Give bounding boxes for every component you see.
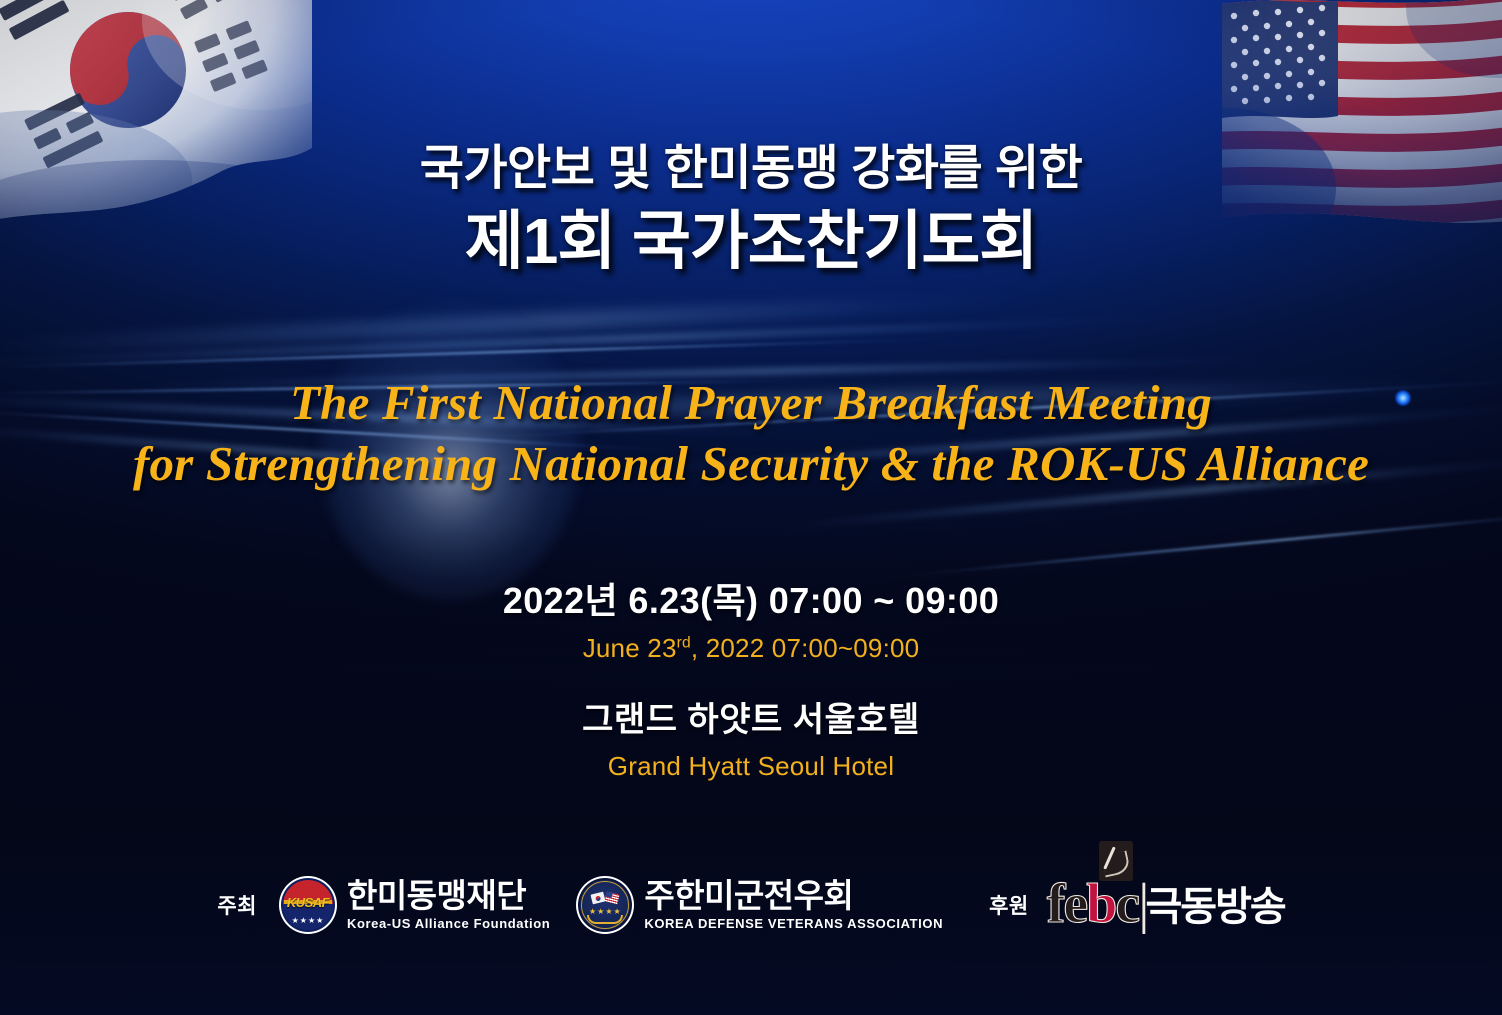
datetime-english: June 23rd, 2022 07:00~09:00 <box>0 633 1502 664</box>
datetime-ordinal-suffix: rd <box>677 634 691 651</box>
febc-name-korean: 극동방송 <box>1145 887 1284 932</box>
kusaf-emblem-icon: KUSAF ★★★★ <box>279 876 337 934</box>
korean-title-line1: 국가안보 및 한미동맹 강화를 위한 <box>0 140 1502 198</box>
sponsor-febc: febc| 극동방송 <box>1047 878 1285 931</box>
korean-title-block: 국가안보 및 한미동맹 강화를 위한 제1회 국가조찬기도회 <box>0 140 1502 280</box>
kdva-emblem-icon: ★★★★ <box>576 876 634 934</box>
kusaf-name-english: Korea-US Alliance Foundation <box>347 916 550 931</box>
datetime-korean: 2022년 6.23(목) 07:00 ~ 09:00 <box>0 572 1502 624</box>
sponsor-kdva: ★★★★ 주한미군전우회 KOREA DEFENSE VETERANS ASSO… <box>576 876 943 934</box>
kdva-korean-flag-icon <box>591 892 606 905</box>
kdva-name-block: 주한미군전우회 KOREA DEFENSE VETERANS ASSOCIATI… <box>644 879 943 931</box>
kdva-us-flag-icon <box>605 892 620 905</box>
febc-letter-e: e <box>1063 873 1086 935</box>
kusaf-emblem-text: KUSAF <box>279 895 337 910</box>
korean-title-line2: 제1회 국가조찬기도회 <box>0 202 1502 280</box>
venue-korean: 그랜드 하얏트 서울호텔 <box>0 692 1502 741</box>
host-label: 주최 <box>217 890 257 920</box>
datetime-english-suffix: , 2022 07:00~09:00 <box>691 633 919 663</box>
febc-letter-f: f <box>1047 873 1064 935</box>
sponsor-kusaf: KUSAF ★★★★ 한미동맹재단 Korea-US Alliance Foun… <box>279 876 550 934</box>
venue-block: 그랜드 하얏트 서울호텔 Grand Hyatt Seoul Hotel <box>0 692 1502 782</box>
kdva-name-korean: 주한미군전우회 <box>644 879 943 914</box>
febc-letter-c: c <box>1115 873 1138 935</box>
febc-quill-mark-icon <box>1099 841 1133 881</box>
febc-wordmark: febc| <box>1047 878 1148 931</box>
datetime-english-prefix: June 23 <box>583 633 677 663</box>
febc-letter-b: b <box>1086 873 1115 935</box>
support-label: 후원 <box>989 890 1029 920</box>
kusaf-name-block: 한미동맹재단 Korea-US Alliance Foundation <box>347 879 550 931</box>
english-title-block: The First National Prayer Breakfast Meet… <box>0 375 1502 492</box>
english-title-line1: The First National Prayer Breakfast Meet… <box>0 375 1502 430</box>
event-poster: 국가안보 및 한미동맹 강화를 위한 제1회 국가조찬기도회 The First… <box>0 0 1502 1015</box>
kusaf-emblem-stars: ★★★★ <box>279 916 337 925</box>
kusaf-name-korean: 한미동맹재단 <box>347 879 550 914</box>
datetime-block: 2022년 6.23(목) 07:00 ~ 09:00 June 23rd, 2… <box>0 572 1502 664</box>
kdva-name-english: KOREA DEFENSE VETERANS ASSOCIATION <box>644 916 943 931</box>
venue-english: Grand Hyatt Seoul Hotel <box>0 751 1502 782</box>
english-title-line2: for Strengthening National Security & th… <box>0 436 1502 491</box>
sponsor-row: 주최 KUSAF ★★★★ 한미동맹재단 Korea-US Alliance F… <box>0 855 1502 955</box>
